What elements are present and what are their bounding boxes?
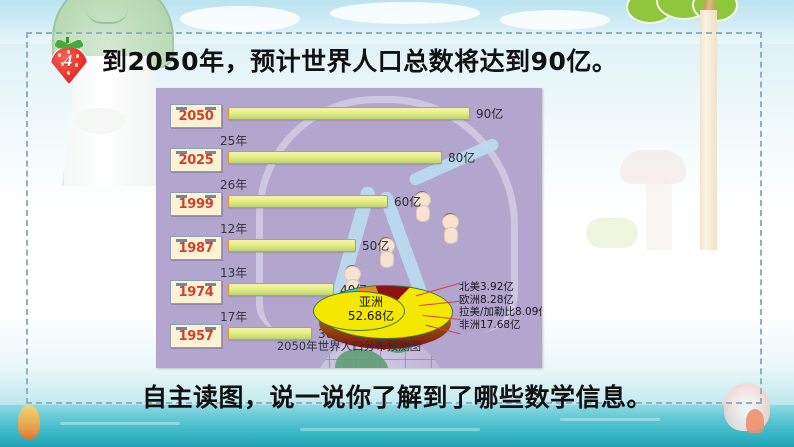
bar-value-label: 80亿	[448, 149, 475, 166]
cloud-shape	[500, 10, 610, 30]
bar-2050	[228, 107, 470, 120]
chart-panel: 2050 90亿 25年 2025 80亿 26年 1999 60亿 12年 1…	[156, 88, 542, 368]
year-label: 1974	[179, 285, 214, 300]
year-label: 2050	[179, 109, 214, 124]
slide-stage: 4 到2050年，预计世界人口总数将达到90亿。	[0, 0, 794, 447]
year-label-box: 1987	[170, 236, 222, 260]
bar-value-label: 90亿	[476, 105, 503, 122]
footer: 自主读图，说一说你了解到了哪些数学信息。	[0, 378, 794, 414]
bar-value-label: 60亿	[394, 193, 421, 210]
bar-2025	[228, 151, 442, 164]
page-title: 到2050年，预计世界人口总数将达到90亿。	[102, 42, 617, 78]
cloud-shape	[330, 2, 480, 24]
year-label-box: 1974	[170, 280, 222, 304]
pie-legend-item-africa: 非洲17.68亿	[459, 319, 542, 332]
year-label: 2025	[179, 153, 214, 168]
badge-number: 4	[50, 51, 86, 71]
background-water-deep	[0, 431, 794, 447]
strawberry-icon: 4	[46, 37, 90, 83]
interval-label: 26年	[220, 176, 247, 193]
year-label: 1987	[179, 241, 214, 256]
interval-label: 13年	[220, 264, 247, 281]
interval-label: 17年	[220, 308, 247, 325]
pie-legend-item-north-america: 北美3.92亿	[459, 281, 542, 294]
bar-1987	[228, 239, 356, 252]
pie-chart-caption: 2050年世界人口分布预测图	[156, 338, 542, 354]
footer-prompt: 自主读图，说一说你了解到了哪些数学信息。	[142, 383, 652, 412]
pie-legend-item-latin-america: 拉美/加勒比8.09亿	[459, 306, 542, 319]
year-label-box: 2050	[170, 104, 222, 128]
header: 4 到2050年，预计世界人口总数将达到90亿。	[36, 36, 736, 84]
interval-label: 25年	[220, 132, 247, 149]
pie-slice-asia-label: 亚洲 52.68亿	[331, 295, 411, 323]
tree-foliage-icon	[626, 0, 736, 26]
pie-legend: 北美3.92亿 欧洲8.28亿 拉美/加勒比8.09亿 非洲17.68亿	[459, 281, 542, 331]
year-label-box: 2025	[170, 148, 222, 172]
year-label: 1999	[179, 197, 214, 212]
strawberry-stem	[66, 37, 69, 43]
pie-legend-item-europe: 欧洲8.28亿	[459, 294, 542, 307]
bar-1999	[228, 195, 388, 208]
interval-label: 12年	[220, 220, 247, 237]
cloud-shape	[180, 6, 300, 32]
bar-value-label: 50亿	[362, 237, 389, 254]
year-label-box: 1999	[170, 192, 222, 216]
